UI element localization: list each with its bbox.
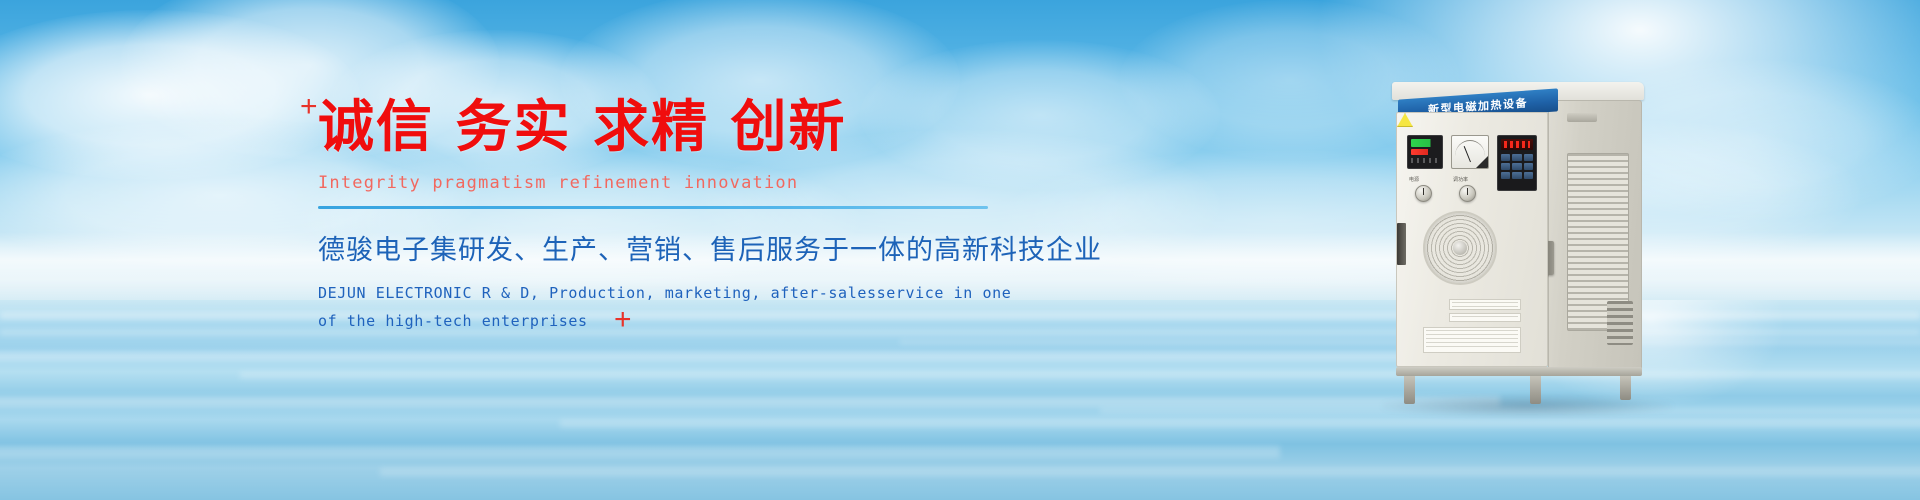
- wave-line: [0, 352, 1620, 361]
- adjust-knob-icon: [1459, 185, 1476, 202]
- keypad-key: [1501, 163, 1510, 170]
- keypad-buttons: [1501, 154, 1533, 179]
- controller-green-segment: [1411, 139, 1439, 147]
- controller-red-segment: [1411, 149, 1439, 155]
- knob-label-left: 电源: [1409, 176, 1419, 183]
- wave-line: [380, 468, 1920, 476]
- controller-indicator-dots: [1411, 158, 1439, 163]
- banner-subtitle-chinese: 德骏电子集研发、生产、营销、售后服务于一体的高新科技企业: [318, 228, 1018, 267]
- power-knob-icon: [1415, 185, 1432, 202]
- keypad-key: [1512, 163, 1521, 170]
- keypad-key: [1524, 172, 1533, 179]
- meter-scale-arc: [1455, 140, 1485, 156]
- analog-meter-gauge: [1451, 135, 1489, 169]
- sticker-text-lines: [1452, 302, 1518, 307]
- machine-label-sticker: [1449, 313, 1521, 322]
- plus-decoration-icon: +: [300, 92, 318, 122]
- fan-grille-icon: [1423, 211, 1497, 285]
- wave-line: [0, 446, 1280, 458]
- machine-spec-sticker: [1423, 327, 1521, 353]
- warning-triangle-icon: [1397, 113, 1413, 127]
- banner-headline: 诚信 务实 求精 创新: [318, 95, 1018, 161]
- product-image-heating-machine: 新型电磁加热设备: [1392, 82, 1644, 382]
- wave-line: [240, 372, 1920, 378]
- keypad-key: [1501, 154, 1510, 161]
- divider-line: [318, 206, 988, 209]
- machine-side-panel: [1548, 100, 1642, 372]
- sticker-text-lines: [1426, 330, 1518, 350]
- wave-line: [0, 396, 1500, 407]
- description-line-2: of the high-tech enterprises: [318, 308, 1018, 336]
- keypad-key: [1512, 172, 1521, 179]
- banner-text-block: 诚信 务实 求精 创新 Integrity pragmatism refinem…: [318, 95, 1018, 336]
- banner-tagline-english: Integrity pragmatism refinement innovati…: [318, 173, 1018, 193]
- meter-corner-mark: [1476, 156, 1488, 168]
- sticker-text-lines: [1452, 316, 1518, 319]
- banner-description-english: DEJUN ELECTRONIC R & D, Production, mark…: [318, 280, 1018, 336]
- machine-label-sticker: [1449, 299, 1521, 310]
- promo-banner: + + 诚信 务实 求精 创新 Integrity pragmatism ref…: [0, 0, 1920, 500]
- keypad-key: [1501, 172, 1510, 179]
- keypad-led-display: [1501, 139, 1533, 150]
- knob-label-right: 调功率: [1453, 176, 1468, 183]
- machine-lower-vent: [1607, 301, 1633, 345]
- machine-front-panel: 电源 调功率: [1396, 112, 1548, 367]
- description-line-1: DEJUN ELECTRONIC R & D, Production, mark…: [318, 280, 1018, 308]
- machine-leg: [1620, 376, 1631, 400]
- machine-switch-strip: [1397, 223, 1406, 265]
- machine-leg: [1404, 376, 1415, 404]
- keypad-key: [1512, 154, 1521, 161]
- keypad-key: [1524, 163, 1533, 170]
- temperature-controller-display: [1407, 135, 1443, 169]
- control-keypad-module: [1497, 135, 1537, 191]
- machine-leg: [1530, 376, 1541, 404]
- keypad-key: [1524, 154, 1533, 161]
- machine-base: [1396, 367, 1642, 376]
- machine-handle-icon: [1567, 113, 1597, 122]
- wave-line: [560, 420, 1920, 427]
